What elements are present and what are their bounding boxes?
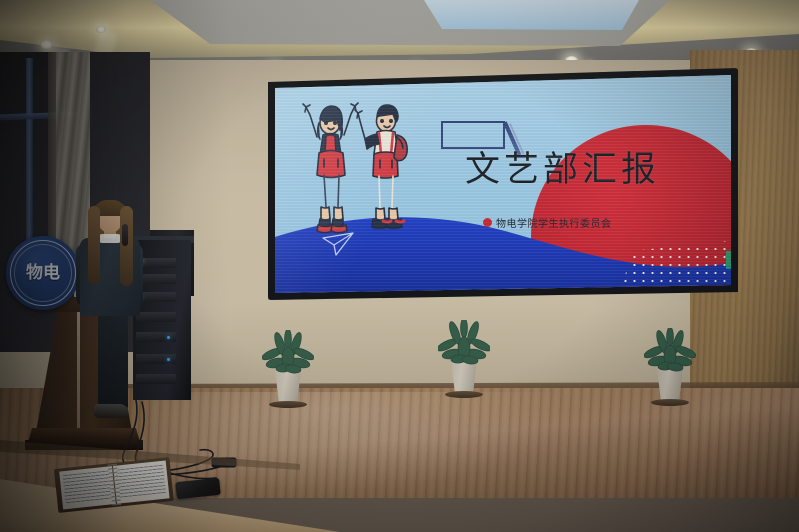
presenter-collar: [99, 234, 121, 243]
presentation-room-photo: 文艺部汇报 物电学院学生执行委员会: [0, 0, 799, 532]
notebook-handwriting-left: [63, 471, 112, 506]
slide-subtitle-row: 物电学院学生执行委员会: [483, 215, 612, 230]
plant-left: [262, 330, 314, 410]
plant-foliage: [644, 328, 696, 374]
cheering-students-illustration: [297, 101, 415, 241]
slide-title: 文艺部汇报: [465, 153, 715, 188]
microphone: [122, 224, 128, 246]
plant-foliage: [438, 320, 490, 366]
presenter-hair-left: [88, 206, 100, 284]
rack-led-blue-1: [167, 336, 170, 339]
subtitle-bullet-dot: [483, 218, 492, 227]
plant-right: [644, 328, 696, 412]
rack-led-blue-2: [167, 358, 170, 361]
decorative-rectangle-outline: [441, 121, 505, 149]
plant-foliage: [262, 330, 314, 376]
notebook-handwriting-right: [117, 465, 166, 500]
downlight-7: [96, 26, 106, 33]
plant-saucer: [445, 391, 483, 398]
presenter-legs: [98, 312, 128, 410]
presenter-hair-right: [120, 206, 133, 286]
slide-subtitle: 物电学院学生执行委员会: [496, 215, 612, 230]
skylight-panel: [424, 0, 639, 30]
emblem-text: 物电: [26, 265, 60, 282]
slide-green-accent: [726, 251, 731, 269]
plant-center: [438, 320, 490, 404]
led-screen-display[interactable]: 文艺部汇报 物电学院学生执行委员会: [275, 75, 731, 293]
plant-saucer: [651, 399, 689, 406]
college-emblem: 物电: [6, 236, 80, 310]
